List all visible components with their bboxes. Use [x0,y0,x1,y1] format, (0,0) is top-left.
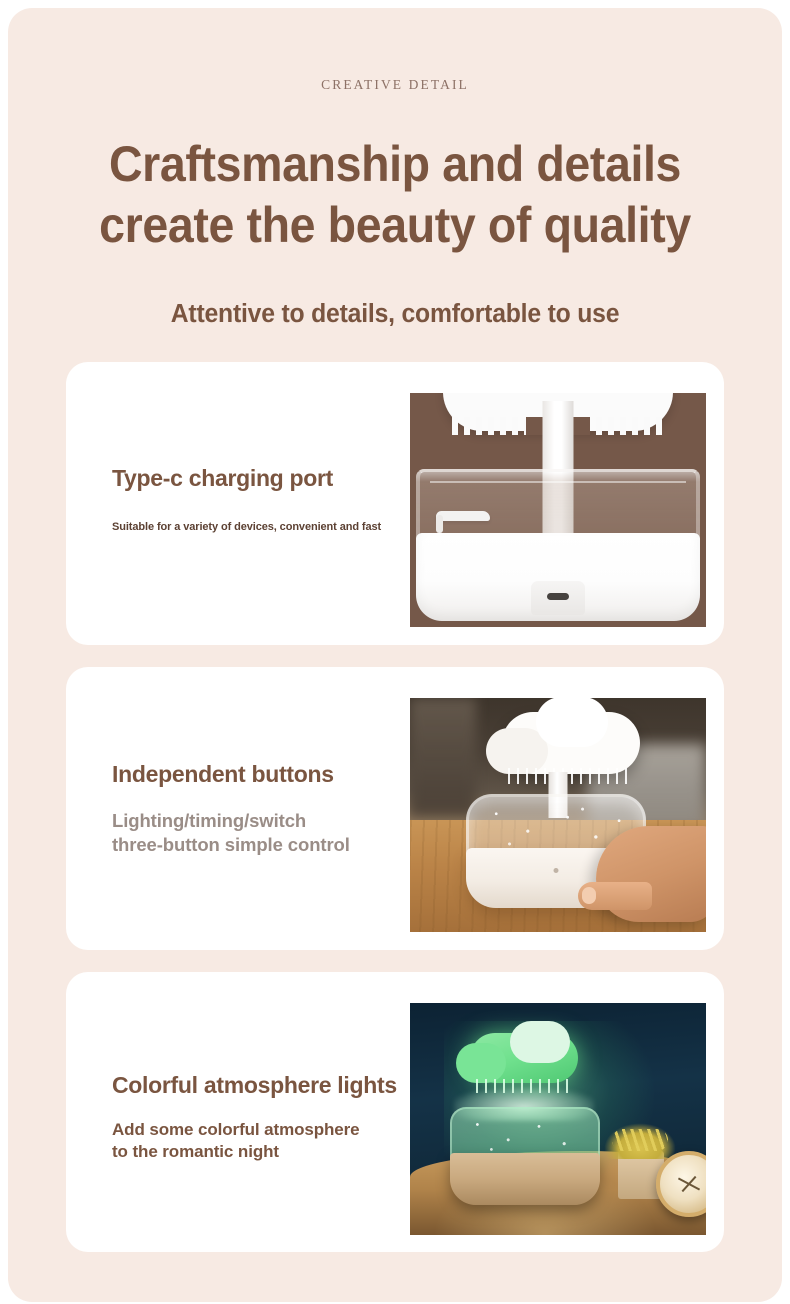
tank-water-line [430,481,686,483]
device-base [416,533,700,621]
feature-card[interactable]: Independent buttons Lighting/timing/swit… [66,667,724,950]
background-blur-left [410,698,476,816]
tank-spout [436,511,490,521]
section-eyebrow: CREATIVE DETAIL [8,77,782,93]
cloud-top-icon [502,712,640,774]
product-detail-page: CREATIVE DETAIL Craftsmanship and detail… [8,8,782,1302]
description-line: to the romantic night [112,1141,412,1163]
feature-card-text: Colorful atmosphere lights Add some colo… [112,1072,412,1163]
page-subtitle: Attentive to details, comfortable to use [20,300,771,329]
water-tank [416,469,700,541]
page-title-line-2: create the beauty of quality [35,195,755,256]
feature-card-image [410,393,706,627]
description-line: Lighting/timing/switch [112,809,412,833]
feature-card-description: Lighting/timing/switch three-button simp… [112,809,412,857]
control-button-icon [554,868,559,873]
feature-card-image [410,698,706,932]
usb-c-port-housing [531,581,585,615]
succulent-plant [604,1123,676,1159]
page-title: Craftsmanship and details create the bea… [35,134,755,256]
feature-card-title: Type-c charging port [112,465,412,492]
feature-card-description: Suitable for a variety of devices, conve… [112,520,412,535]
cloud-top-icon [470,1033,578,1083]
feature-card-image [410,1003,706,1235]
description-line: three-button simple control [112,833,412,857]
feature-card[interactable]: Colorful atmosphere lights Add some colo… [66,972,724,1252]
feature-card-text: Type-c charging port Suitable for a vari… [112,465,412,535]
pointing-finger [578,882,652,910]
description-line: Add some colorful atmosphere [112,1119,412,1141]
feature-card[interactable]: Type-c charging port Suitable for a vari… [66,362,724,645]
page-title-line-1: Craftsmanship and details [109,136,681,192]
feature-card-title: Independent buttons [112,761,412,788]
feature-card-title: Colorful atmosphere lights [112,1072,412,1099]
usb-c-port-icon [547,593,569,600]
fingernail [582,887,596,904]
device-base [450,1153,600,1205]
feature-card-description: Add some colorful atmosphere to the roma… [112,1119,412,1163]
rain-drops-icon [508,768,632,784]
feature-card-text: Independent buttons Lighting/timing/swit… [112,761,412,857]
